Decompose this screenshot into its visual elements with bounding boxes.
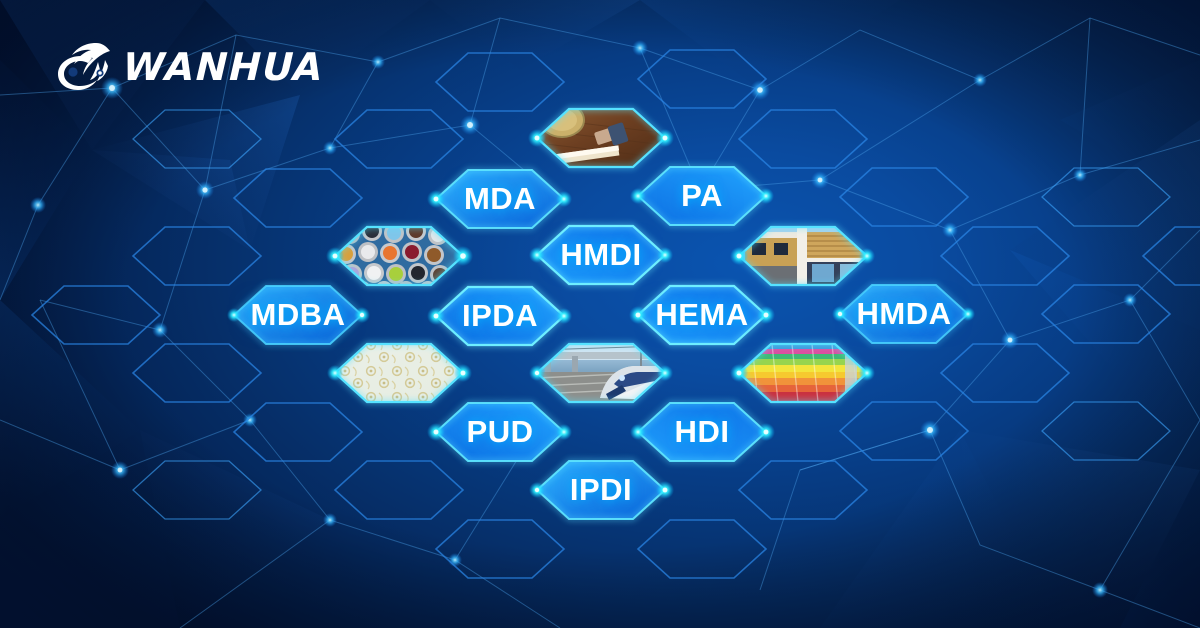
hex-cell-pa[interactable] xyxy=(638,167,766,225)
hex-photo-paint-cans xyxy=(335,221,463,299)
hex-cell-hmda[interactable] xyxy=(840,285,968,343)
hex-cell-pud[interactable] xyxy=(436,403,564,461)
hex-cell-mda[interactable] xyxy=(436,170,564,228)
hex-cell-hdi[interactable] xyxy=(638,403,766,461)
hex-photo-rainbow-textile-yarn xyxy=(739,344,867,402)
hex-cell-hmdi[interactable] xyxy=(537,226,665,284)
hex-photo-floral-fabric-pattern xyxy=(335,344,463,402)
wanhua-swirl-logo-icon xyxy=(52,40,114,94)
brand-wordmark: WANHUA xyxy=(122,48,324,86)
hex-photo-wood-staining-brush xyxy=(537,103,665,167)
hero-banner: MDA PA HMDI MDBA IPDA HEMA HMDA PUD HDI … xyxy=(0,0,1200,628)
brand-logo[interactable]: WANHUA xyxy=(52,40,324,94)
hex-cell-ipda[interactable] xyxy=(436,287,564,345)
hex-photo-modern-building-facade xyxy=(739,227,867,285)
hex-photo-high-speed-train xyxy=(537,344,665,402)
hex-cell-mdba[interactable] xyxy=(234,286,362,344)
hexagon-honeycomb xyxy=(0,0,1200,628)
hex-cell-ipdi[interactable] xyxy=(537,461,665,519)
hex-cell-hema[interactable] xyxy=(638,286,766,344)
